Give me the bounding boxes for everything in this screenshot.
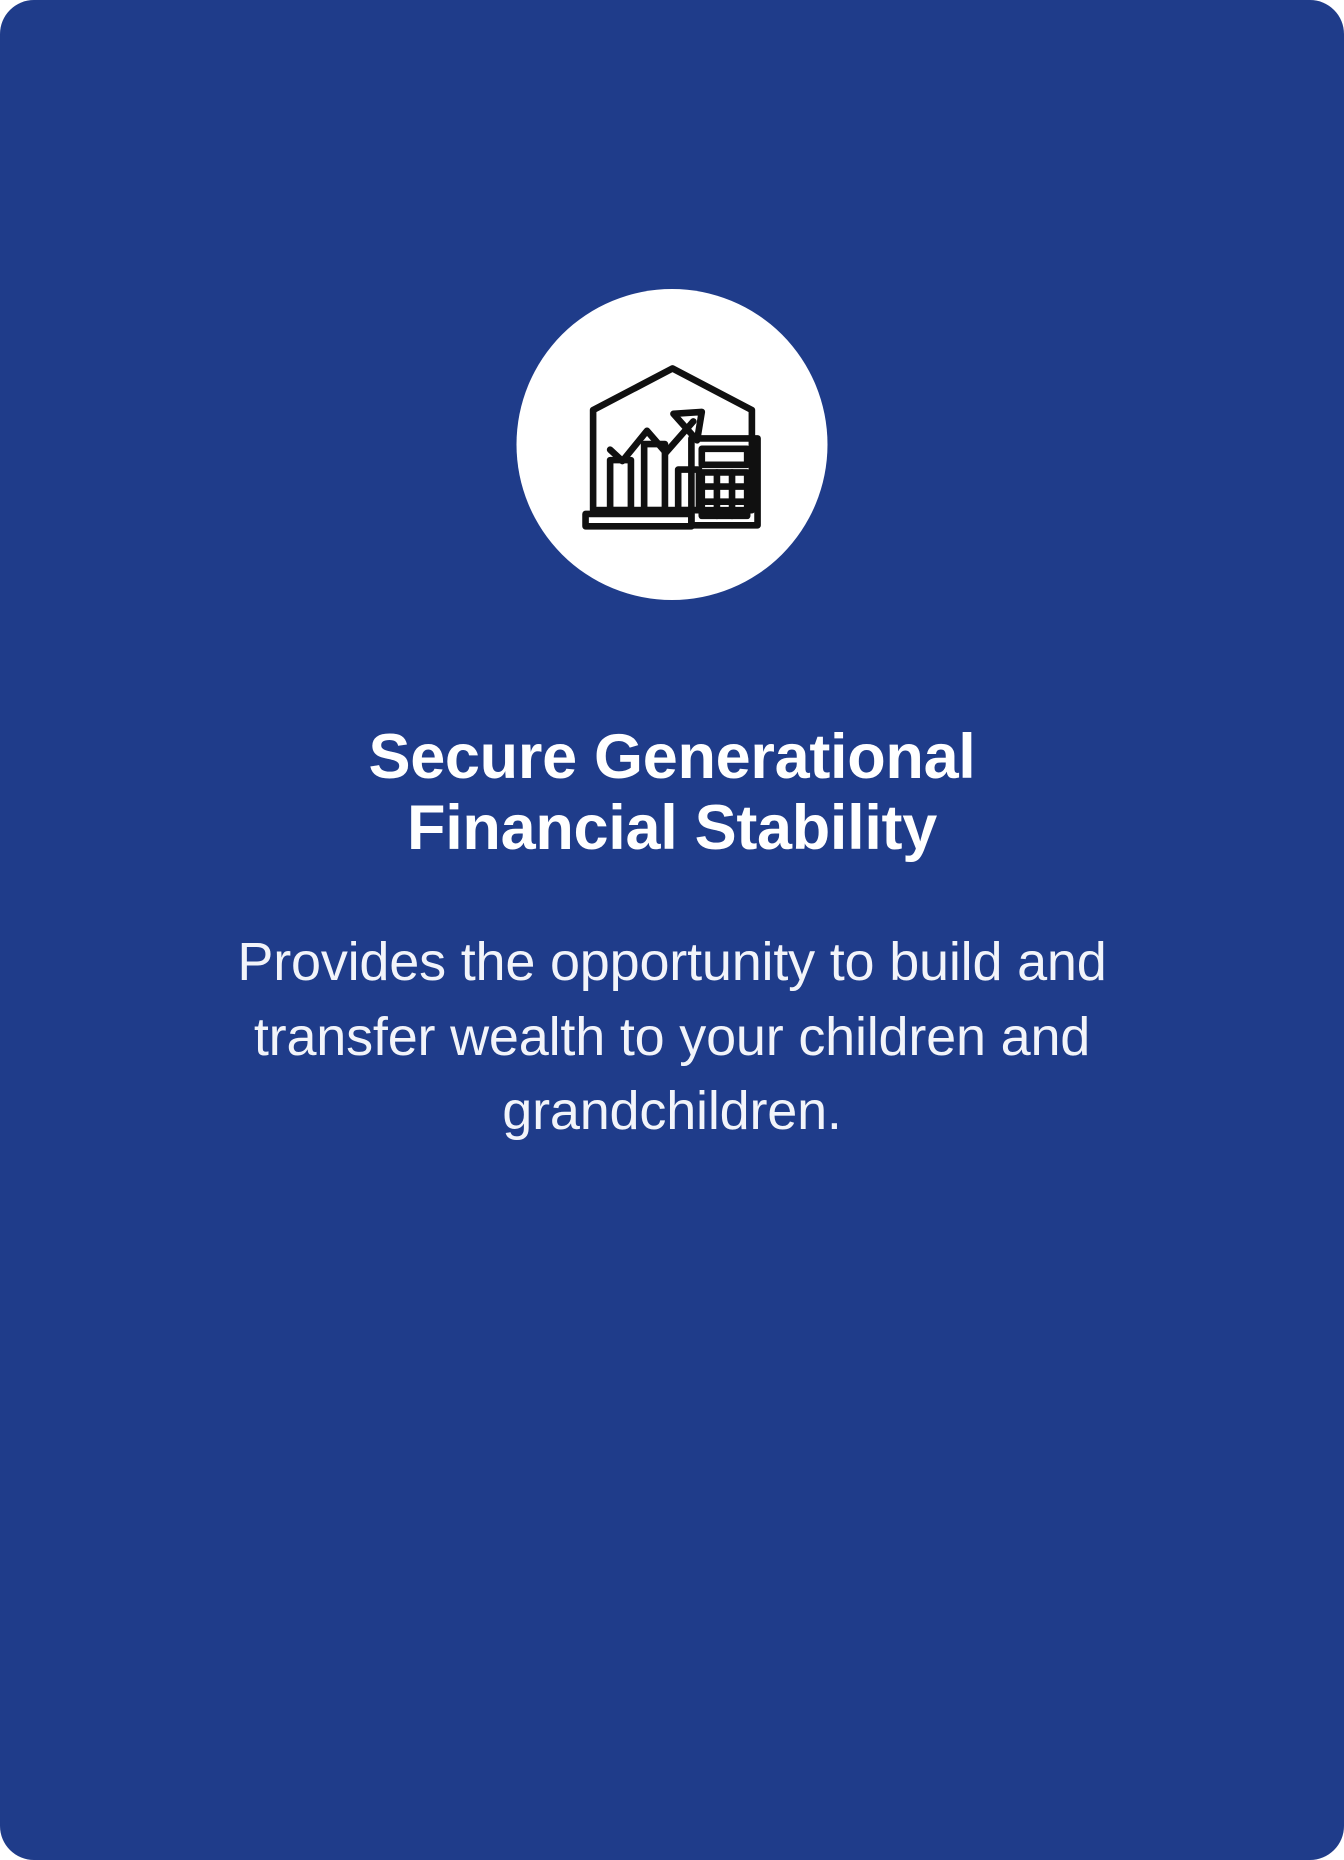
card-title: Secure Generational Financial Stability — [292, 722, 1052, 863]
feature-card: Secure Generational Financial Stability … — [0, 0, 1344, 1860]
calculator-display — [701, 448, 746, 464]
bar-1 — [610, 460, 631, 510]
bar-2 — [644, 444, 665, 510]
card-description: Provides the opportunity to build and tr… — [222, 925, 1122, 1149]
base-platform — [585, 513, 691, 525]
house-chart-calculator-icon — [577, 359, 767, 531]
text-block: Secure Generational Financial Stability … — [0, 722, 1344, 1149]
icon-badge — [517, 289, 828, 600]
